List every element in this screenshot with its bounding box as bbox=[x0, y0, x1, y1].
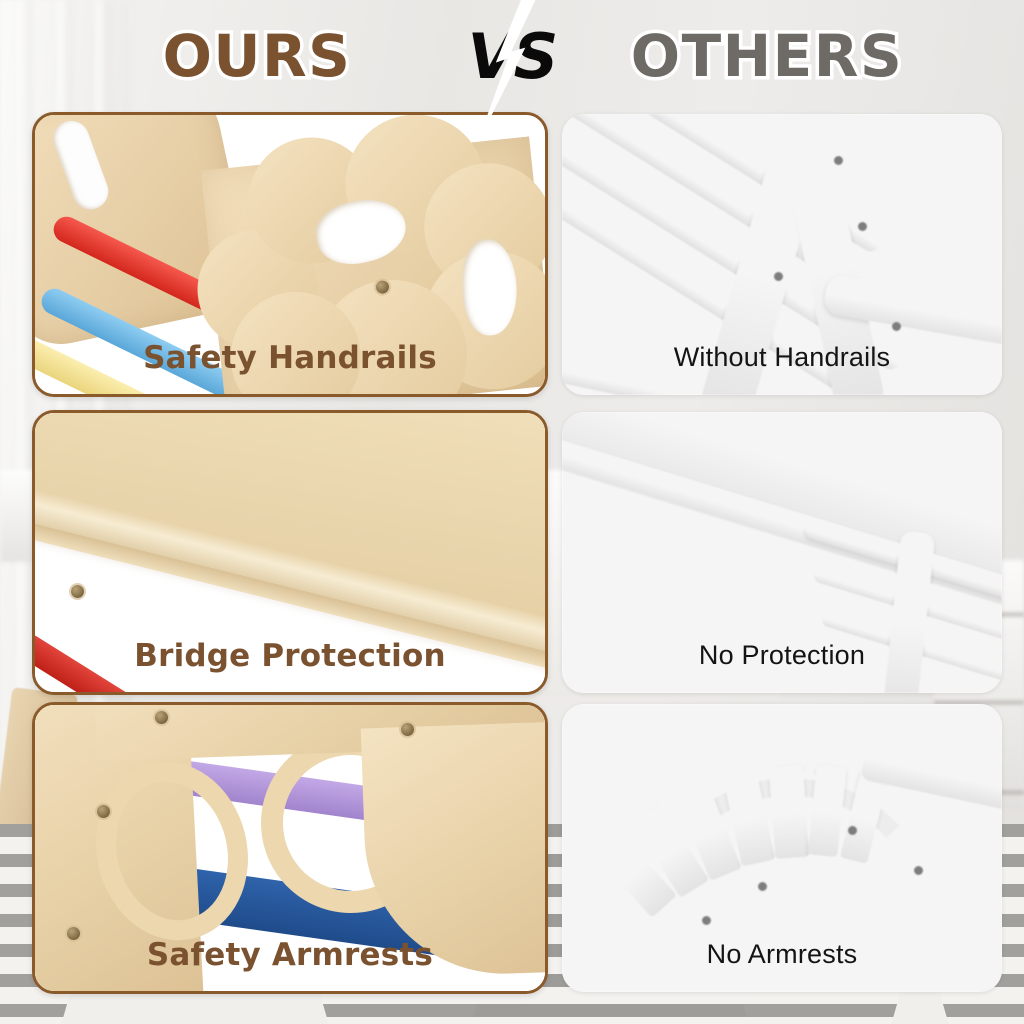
header-bar: OURS VS OTHERS bbox=[0, 0, 1024, 112]
ours-card-armrests[interactable]: Safety Armrests bbox=[32, 702, 548, 994]
ours-title: OURS bbox=[77, 22, 437, 90]
vs-label: VS bbox=[468, 20, 557, 93]
others-card-no-armrests[interactable]: No Armrests bbox=[562, 704, 1002, 992]
others-title: OTHERS bbox=[587, 22, 947, 90]
vs-divider: VS bbox=[437, 0, 587, 112]
others-card-no-protection[interactable]: No Protection bbox=[562, 412, 1002, 693]
others-card-no-handrails[interactable]: Without Handrails bbox=[562, 114, 1002, 395]
others-photo-no-handrails bbox=[562, 114, 1002, 395]
screw-icon bbox=[71, 585, 84, 598]
ours-photo-bridge bbox=[35, 413, 545, 692]
ours-photo-handrails bbox=[35, 115, 545, 394]
others-photo-no-protection bbox=[562, 412, 1002, 693]
ours-card-bridge[interactable]: Bridge Protection bbox=[32, 410, 548, 695]
screw-icon bbox=[97, 805, 110, 818]
others-photo-no-armrests bbox=[562, 704, 1002, 992]
ours-card-handrails[interactable]: Safety Handrails bbox=[32, 112, 548, 397]
comparison-infographic: OURS VS OTHERS bbox=[0, 0, 1024, 1024]
screw-icon bbox=[67, 927, 80, 940]
screw-icon bbox=[155, 711, 168, 724]
wood-cloud-panel bbox=[201, 136, 545, 394]
comparison-grid: Safety Handrails Without Handrails bbox=[0, 112, 1024, 1024]
ours-photo-armrests bbox=[35, 705, 545, 991]
screw-icon bbox=[401, 723, 414, 736]
